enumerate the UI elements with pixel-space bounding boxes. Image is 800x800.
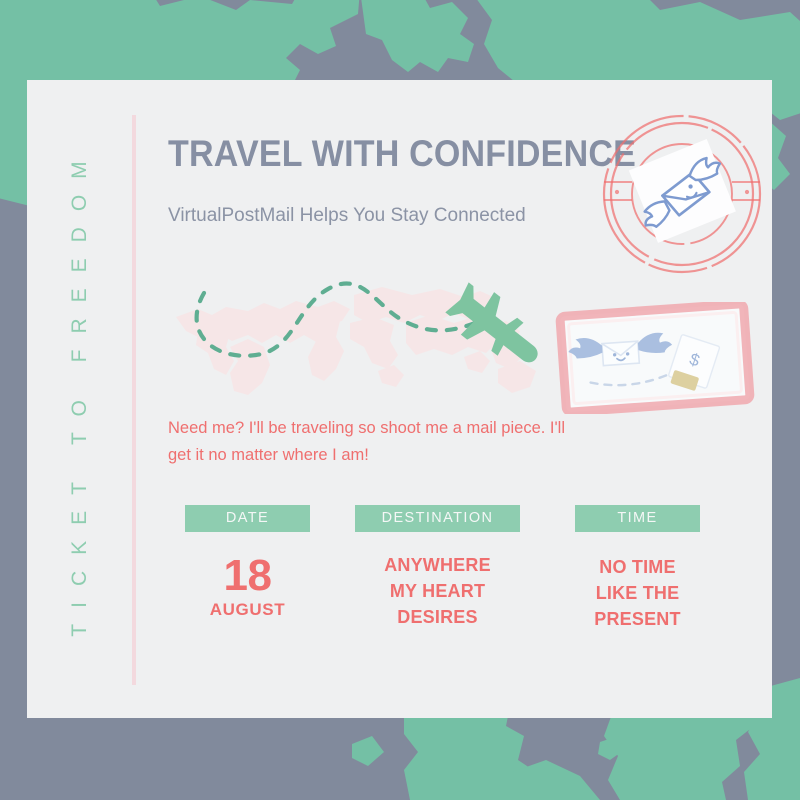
info-row: DATE 18 AUGUST DESTINATION ANYWHERE MY H… (168, 505, 748, 665)
date-day: 18 (185, 554, 310, 599)
time-line-3: PRESENT (575, 606, 700, 632)
time-line-1: NO TIME (575, 554, 700, 580)
info-badge-time: TIME (575, 505, 700, 532)
info-value-destination: ANYWHERE MY HEART DESIRES (355, 552, 520, 630)
info-column-date: DATE 18 AUGUST (185, 505, 310, 620)
winged-envelope-icon (624, 138, 738, 245)
time-line-2: LIKE THE (575, 580, 700, 606)
poster-canvas: TICKET TO FREEDOM TRAVEL WITH CONFIDENCE… (0, 0, 800, 800)
ticket-stub: TICKET TO FREEDOM (27, 80, 133, 718)
circular-postmark-stamp (587, 108, 772, 283)
info-column-destination: DESTINATION ANYWHERE MY HEART DESIRES (355, 505, 520, 630)
vertical-divider (132, 115, 136, 685)
info-badge-date: DATE (185, 505, 310, 532)
journey-illustration (168, 265, 558, 400)
ticket-card: TICKET TO FREEDOM TRAVEL WITH CONFIDENCE… (27, 80, 772, 718)
blurb-text: Need me? I'll be traveling so shoot me a… (168, 415, 580, 468)
rectangular-postage-stamp: $ (555, 302, 755, 414)
info-badge-destination: DESTINATION (355, 505, 520, 532)
info-value-date: 18 AUGUST (185, 554, 310, 620)
info-value-time: NO TIME LIKE THE PRESENT (575, 554, 700, 632)
destination-line-2: MY HEART (355, 578, 520, 604)
date-month: AUGUST (185, 600, 310, 620)
page-title: TRAVEL WITH CONFIDENCE (168, 133, 636, 175)
page-subtitle: VirtualPostMail Helps You Stay Connected (168, 205, 526, 227)
destination-line-1: ANYWHERE (355, 552, 520, 578)
destination-line-3: DESIRES (355, 604, 520, 630)
world-map-outline (176, 287, 536, 395)
stub-label: TICKET TO FREEDOM (68, 145, 92, 652)
info-column-time: TIME NO TIME LIKE THE PRESENT (575, 505, 700, 632)
